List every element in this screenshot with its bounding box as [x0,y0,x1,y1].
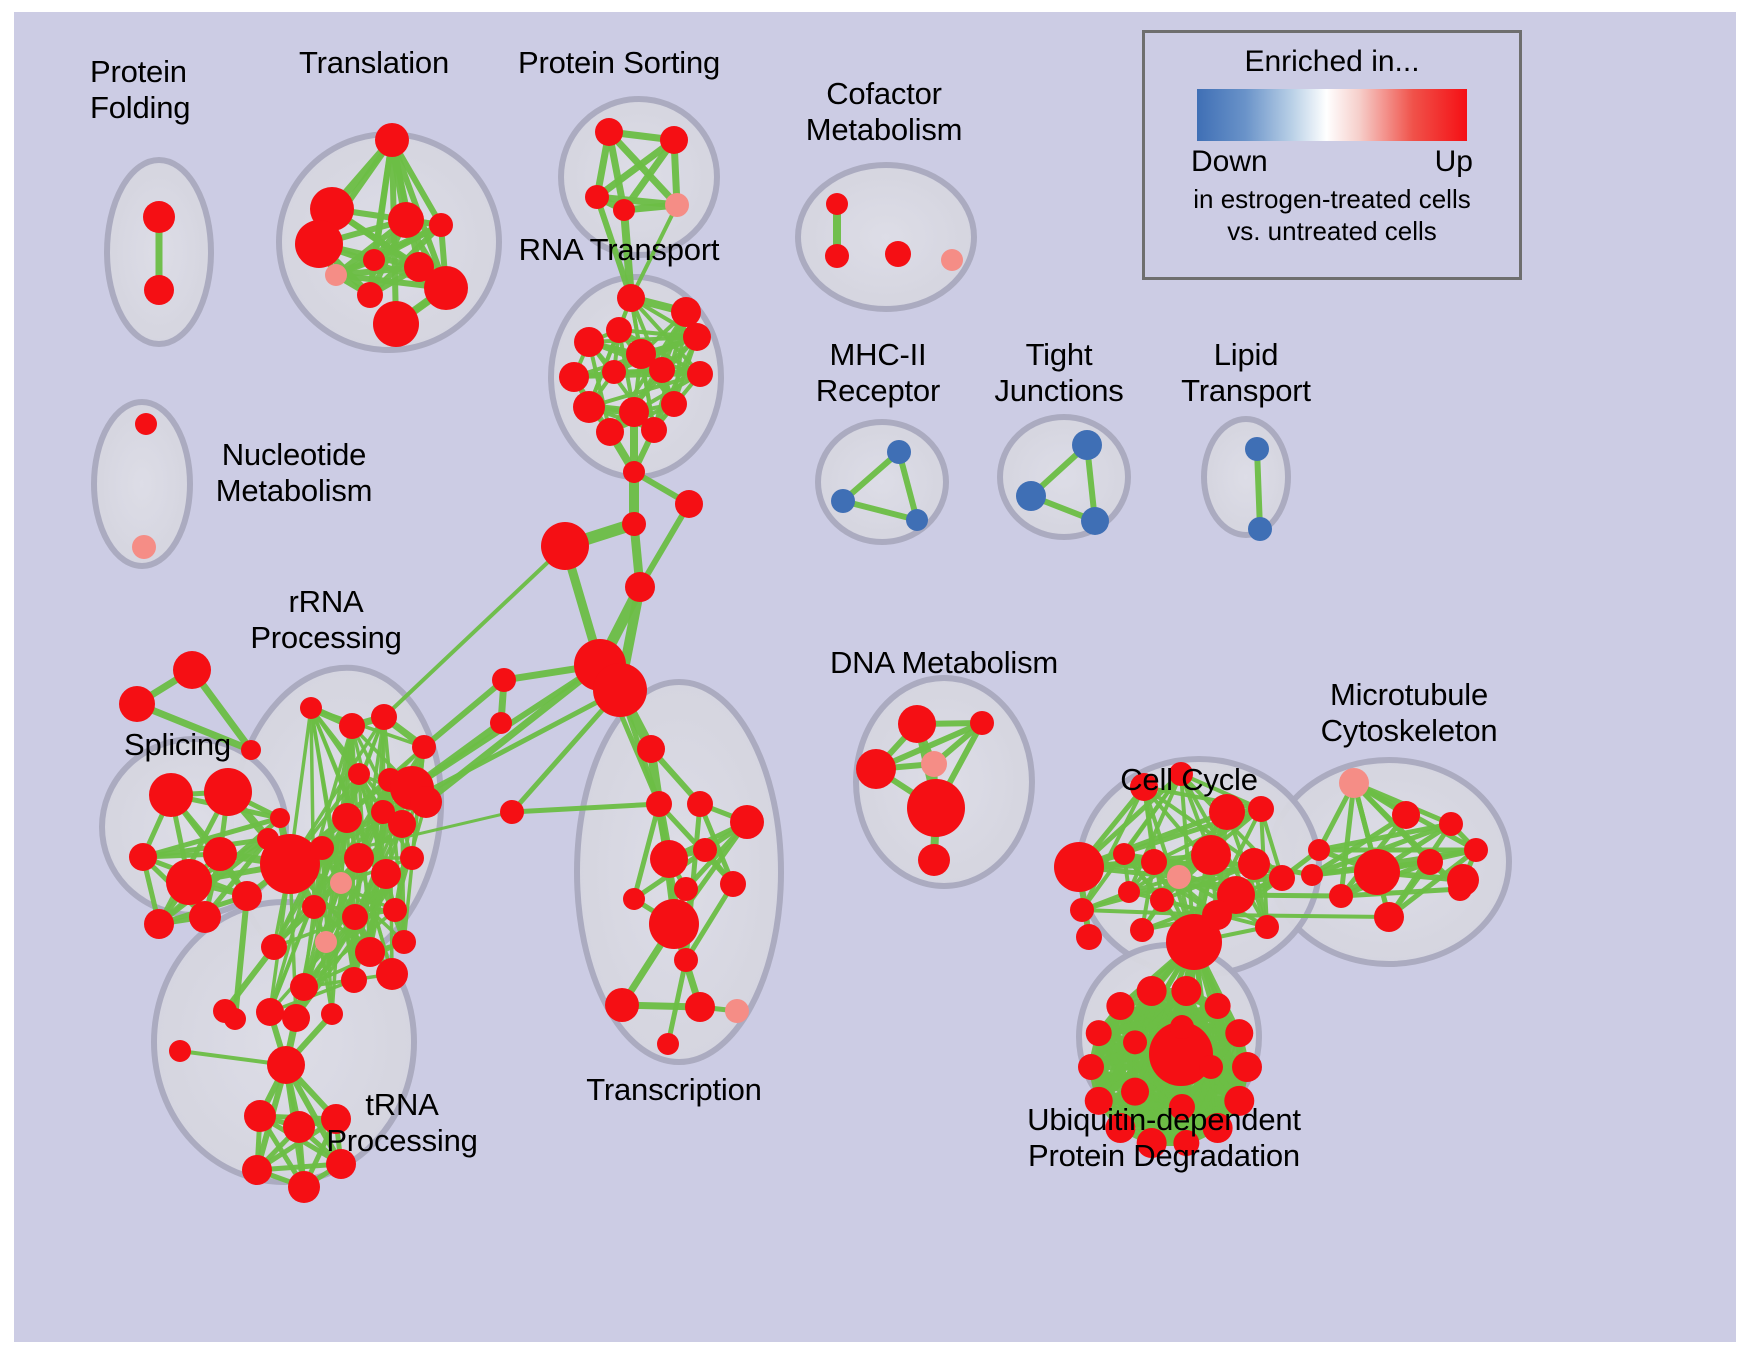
network-node [1106,992,1134,1020]
network-node [1130,918,1154,942]
network-node [1439,812,1463,836]
network-node [1137,976,1167,1006]
network-node [244,1100,276,1132]
network-node [687,361,713,387]
network-node [649,899,699,949]
network-node [143,201,175,233]
network-node [388,202,424,238]
network-node [1374,902,1404,932]
network-node [559,362,589,392]
network-node [1167,865,1191,889]
network-node [693,838,717,862]
network-node [1232,1052,1262,1082]
legend-title: Enriched in... [1145,45,1519,79]
network-node [1123,1030,1147,1054]
network-node [270,808,290,828]
network-node [339,713,365,739]
network-node [622,512,646,536]
network-node [606,317,632,343]
network-node [500,800,524,824]
network-node [856,749,896,789]
network-node [256,998,284,1026]
network-node [144,275,174,305]
network-node [1339,768,1369,798]
network-node [400,846,424,870]
network-node [288,1171,320,1203]
network-node [1209,794,1245,830]
network-node [683,323,711,351]
network-node [674,948,698,972]
network-node [355,937,385,967]
network-node [725,999,749,1023]
cluster-label-mhc-ii-receptor: MHC-II Receptor [816,337,940,409]
network-node [267,1046,305,1084]
network-node [657,1033,679,1055]
network-node [373,301,419,347]
network-node [593,663,647,717]
network-node [674,877,698,901]
network-node [392,930,416,954]
network-node [685,992,715,1022]
network-node [315,931,337,953]
network-node [1248,517,1272,541]
network-node [341,967,367,993]
network-node [332,803,362,833]
legend-box: Enriched in... Down Up in estrogen-treat… [1142,30,1522,280]
network-node [166,859,212,905]
network-node [232,881,262,911]
cluster-label-cell-cycle: Cell Cycle [1120,762,1258,798]
network-node [295,220,343,268]
cluster-label-rrna-processing: rRNA Processing [250,584,401,656]
legend-caption-line2: vs. untreated cells [1145,215,1519,247]
network-node [625,572,655,602]
network-node [646,791,672,817]
network-node [596,418,624,446]
network-node [1354,849,1400,895]
network-node [541,522,589,570]
network-node [119,686,155,722]
network-node [129,843,157,871]
network-node [357,282,383,308]
network-node [132,535,156,559]
network-node [1086,1020,1112,1046]
cluster-label-nucleotide-metabolism: Nucleotide Metabolism [216,437,373,509]
network-node [1054,842,1104,892]
network-node [173,651,211,689]
network-node [302,895,326,919]
network-node [605,988,639,1022]
network-node [363,249,385,271]
network-node [1329,884,1353,908]
network-node [1070,898,1094,922]
network-node [720,871,746,897]
network-node [135,413,157,435]
network-node [1199,1055,1223,1079]
network-node [649,357,675,383]
network-node [1150,888,1174,912]
legend-up-label: Up [1435,145,1473,179]
cluster-label-splicing: Splicing [124,727,231,763]
cluster-label-dna-metabolism: DNA Metabolism [830,645,1058,681]
cluster-label-protein-folding: Protein Folding [90,54,190,126]
network-node [1141,849,1167,875]
network-node [1205,993,1231,1019]
network-node [282,1004,310,1032]
network-node [1225,1019,1253,1047]
network-node [1078,1054,1104,1080]
network-node [1245,437,1269,461]
network-node [321,1003,343,1025]
network-node [941,249,963,271]
network-node [906,509,928,531]
network-node [261,934,287,960]
network-node [898,705,936,743]
network-node [1417,849,1443,875]
network-node [650,840,688,878]
network-node [574,327,604,357]
network-node [1248,796,1274,822]
cluster-label-ubiquitin-protein-degradation: Ubiquitin-dependent Protein Degradation [1027,1102,1301,1174]
network-node [300,697,322,719]
network-node [907,779,965,837]
network-node [573,391,605,423]
network-node [325,264,347,286]
network-node [371,859,401,889]
cluster-label-microtubule-cytoskeleton: Microtubule Cytoskeleton [1321,677,1498,749]
network-node [1202,900,1232,930]
cluster-label-protein-sorting: Protein Sorting [518,45,720,81]
network-node [1301,864,1323,886]
network-node [1308,839,1330,861]
network-node [204,768,252,816]
network-node [825,244,849,268]
cluster-label-cofactor-metabolism: Cofactor Metabolism [806,76,963,148]
network-node [344,843,374,873]
network-node [375,123,409,157]
network-node [492,668,516,692]
network-node [1170,1015,1194,1039]
figure-canvas: Protein FoldingTranslationProtein Sortin… [0,0,1750,1360]
network-node [1118,881,1140,903]
network-node [918,844,950,876]
network-node [1255,915,1279,939]
network-node [189,901,221,933]
network-node [383,898,407,922]
network-node [675,490,703,518]
network-node [1191,835,1231,875]
network-node [330,872,352,894]
network-node [613,199,635,221]
network-node [149,773,193,817]
network-node [595,118,623,146]
legend-caption-line1: in estrogen-treated cells [1145,183,1519,215]
network-node [1269,865,1295,891]
cluster-label-rna-transport: RNA Transport [519,232,720,268]
network-node [730,805,764,839]
network-node [1171,976,1201,1006]
network-node [371,704,397,730]
legend-down-label: Down [1191,145,1268,179]
network-node [376,958,408,990]
network-node [970,711,994,735]
network-node [213,999,237,1023]
network-node [241,740,261,760]
network-node [665,193,689,217]
network-node [1113,843,1135,865]
network-plot-area: Protein FoldingTranslationProtein Sortin… [14,12,1736,1342]
network-node [490,712,512,734]
cluster-label-lipid-transport: Lipid Transport [1181,337,1311,409]
network-node [617,284,645,312]
network-node [1238,848,1270,880]
network-node [1016,481,1046,511]
network-node [660,126,688,154]
network-node [242,1155,272,1185]
network-node [1076,924,1102,950]
network-node [585,185,609,209]
network-node [429,213,453,237]
network-node [1447,864,1479,896]
network-node [671,297,701,327]
network-node [1072,430,1102,460]
network-node [410,786,442,818]
network-node [203,837,237,871]
network-node [831,489,855,513]
network-node [921,751,947,777]
network-node [388,810,416,838]
network-node [169,1040,191,1062]
network-node [887,440,911,464]
cluster-label-tight-junctions: Tight Junctions [994,337,1123,409]
network-node [424,266,468,310]
network-node [283,1111,315,1143]
legend-color-gradient [1197,89,1467,141]
network-node [1081,507,1109,535]
network-node [602,360,626,384]
network-node [412,735,436,759]
network-node [641,417,667,443]
network-node [1464,838,1488,862]
network-node [623,888,645,910]
network-node [637,735,665,763]
network-node [885,241,911,267]
network-node [687,791,713,817]
cluster-label-transcription: Transcription [586,1072,761,1108]
network-node [310,836,334,860]
network-node [348,763,370,785]
network-node [826,193,848,215]
network-node [260,834,320,894]
network-node [661,391,687,417]
network-node [342,904,368,930]
cluster-label-translation: Translation [299,45,449,81]
network-node [290,973,318,1001]
network-node [1392,801,1420,829]
cluster-label-trna-processing: tRNA Processing [326,1087,477,1159]
network-node [623,461,645,483]
network-node [144,909,174,939]
